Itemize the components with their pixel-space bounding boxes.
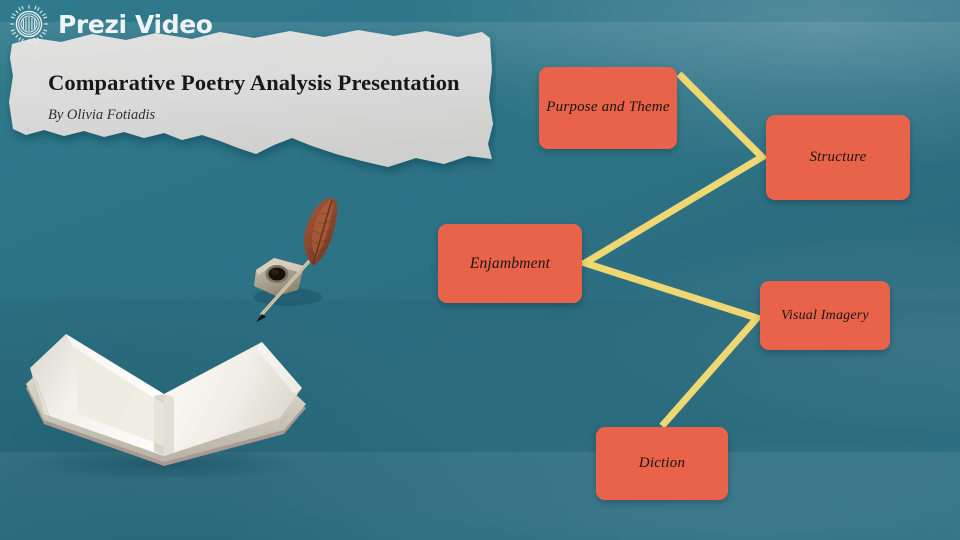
diagram-node-label: Purpose and Theme <box>546 97 669 118</box>
prezi-sunburst-icon <box>8 3 50 45</box>
diagram-node-label: Visual Imagery <box>781 306 869 326</box>
diagram-node-purpose-and-theme[interactable]: Purpose and Theme <box>539 67 677 149</box>
prezi-video-logo: Prezi Video <box>8 3 213 45</box>
quill-pen-icon <box>240 192 360 322</box>
diagram-node-structure[interactable]: Structure <box>766 115 910 200</box>
diagram-node-label: Structure <box>809 147 866 168</box>
diagram-node-visual-imagery[interactable]: Visual Imagery <box>760 281 890 350</box>
diagram-node-label: Diction <box>639 453 685 474</box>
diagram-node-enjambment[interactable]: Enjambment <box>438 224 582 303</box>
page-title: Comparative Poetry Analysis Presentation <box>48 70 478 96</box>
author-subtitle: By Olivia Fotiadis <box>48 107 478 124</box>
diagram-node-label: Enjambment <box>470 253 550 275</box>
quill-and-inkwell-illustration <box>240 192 360 322</box>
title-card-text: Comparative Poetry Analysis Presentation… <box>48 70 478 124</box>
diagram-node-diction[interactable]: Diction <box>596 427 728 500</box>
title-card: Comparative Poetry Analysis Presentation… <box>6 28 496 176</box>
slide-canvas: Prezi Video Comparative Poetry Analysis … <box>0 0 960 540</box>
open-book-illustration <box>14 296 314 478</box>
prezi-video-wordmark: Prezi Video <box>58 10 213 39</box>
open-book-icon <box>14 296 314 478</box>
